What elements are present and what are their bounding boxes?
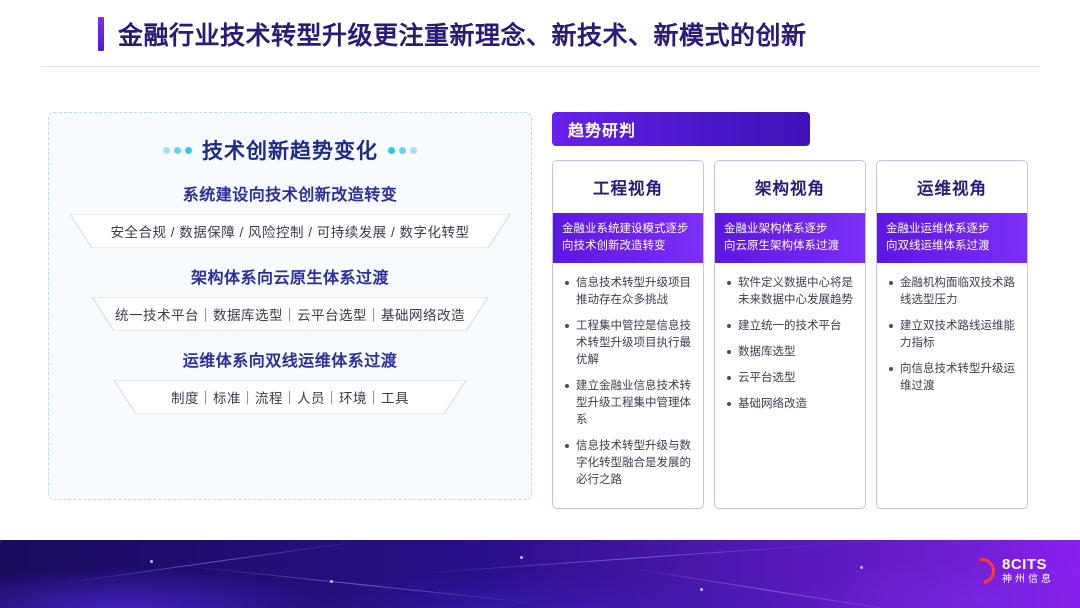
list-item: 向信息技术转型升级运维过渡	[889, 361, 1017, 395]
footer-bar: 8CITS 神州信息	[0, 540, 1080, 608]
card-3-band-line-2: 向双线运维体系过渡	[886, 238, 1018, 255]
stage-2: 架构体系向云原生体系过渡 统一技术平台｜数据库选型｜云平台选型｜基础网络改造	[49, 264, 531, 331]
page-header: 金融行业技术转型升级更注重新理念、新技术、新模式的创新	[0, 0, 1080, 68]
stage-3-title: 运维体系向双线运维体系过渡	[49, 347, 531, 371]
trend-change-panel: 技术创新趋势变化 系统建设向技术创新改造转变 安全合规 / 数据保障 / 风险控…	[48, 112, 532, 500]
card-1-band-line-2: 向技术创新改造转变	[562, 238, 694, 255]
trend-assessment-header-label: 趋势研判	[568, 117, 636, 141]
list-item: 数据库选型	[727, 344, 855, 361]
stage-1-funnel: 安全合规 / 数据保障 / 风险控制 / 可持续发展 / 数字化转型	[70, 214, 510, 248]
logo-text-en: 8CITS	[1002, 557, 1054, 572]
list-item: 建立统一的技术平台	[727, 318, 855, 335]
stage-1: 系统建设向技术创新改造转变 安全合规 / 数据保障 / 风险控制 / 可持续发展…	[49, 181, 531, 248]
card-1-band-line-1: 金融业系统建设模式逐步	[562, 221, 694, 238]
company-logo: 8CITS 神州信息	[969, 557, 1054, 585]
list-item: 工程集中管控是信息技术转型升级项目执行最优解	[565, 318, 693, 369]
card-1-band: 金融业系统建设模式逐步 向技术创新改造转变	[553, 213, 703, 263]
card-3-band-line-1: 金融业运维体系逐步	[886, 221, 1018, 238]
stage-3-funnel: 制度｜标准｜流程｜人员｜环境｜工具	[70, 380, 510, 414]
decorative-dots-left	[163, 147, 192, 154]
perspective-card-architecture[interactable]: 架构视角 金融业架构体系逐步 向云原生架构体系过渡 软件定义数据中心将是未来数据…	[714, 160, 866, 509]
card-2-band: 金融业架构体系逐步 向云原生架构体系过渡	[715, 213, 865, 263]
stage-2-items: 统一技术平台｜数据库选型｜云平台选型｜基础网络改造	[70, 297, 510, 331]
decorative-dots-right	[388, 147, 417, 154]
left-panel-heading: 技术创新趋势变化	[49, 135, 531, 165]
perspective-card-list: 工程视角 金融业系统建设模式逐步 向技术创新改造转变 信息技术转型升级项目推动存…	[552, 160, 1032, 509]
trend-assessment-header: 趋势研判	[552, 112, 810, 146]
stage-1-items: 安全合规 / 数据保障 / 风险控制 / 可持续发展 / 数字化转型	[70, 214, 510, 248]
card-2-body: 软件定义数据中心将是未来数据中心发展趋势 建立统一的技术平台 数据库选型 云平台…	[715, 263, 865, 432]
list-item: 云平台选型	[727, 370, 855, 387]
stage-3: 运维体系向双线运维体系过渡 制度｜标准｜流程｜人员｜环境｜工具	[49, 347, 531, 414]
list-item: 信息技术转型升级与数字化转型融合是发展的必行之路	[565, 438, 693, 489]
perspective-card-operations[interactable]: 运维视角 金融业运维体系逐步 向双线运维体系过渡 金融机构面临双技术路线选型压力…	[876, 160, 1028, 509]
trend-assessment-panel: 趋势研判 工程视角 金融业系统建设模式逐步 向技术创新改造转变 信息技术转型升级…	[552, 112, 1032, 509]
list-item: 信息技术转型升级项目推动存在众多挑战	[565, 275, 693, 309]
logo-swirl-icon	[969, 558, 995, 584]
logo-text-cn: 神州信息	[1002, 575, 1054, 585]
left-panel-heading-label: 技术创新趋势变化	[202, 135, 378, 165]
card-2-title: 架构视角	[715, 161, 865, 213]
list-item: 建立金融业信息技术转型升级工程集中管理体系	[565, 378, 693, 429]
card-1-title: 工程视角	[553, 161, 703, 213]
list-item: 软件定义数据中心将是未来数据中心发展趋势	[727, 275, 855, 309]
card-3-band: 金融业运维体系逐步 向双线运维体系过渡	[877, 213, 1027, 263]
list-item: 金融机构面临双技术路线选型压力	[889, 275, 1017, 309]
card-1-body: 信息技术转型升级项目推动存在众多挑战 工程集中管控是信息技术转型升级项目执行最优…	[553, 263, 703, 508]
page-title: 金融行业技术转型升级更注重新理念、新技术、新模式的创新	[118, 16, 807, 52]
stage-3-items: 制度｜标准｜流程｜人员｜环境｜工具	[70, 380, 510, 414]
card-3-title: 运维视角	[877, 161, 1027, 213]
stage-2-title: 架构体系向云原生体系过渡	[49, 264, 531, 288]
card-2-band-line-2: 向云原生架构体系过渡	[724, 238, 856, 255]
stage-2-funnel: 统一技术平台｜数据库选型｜云平台选型｜基础网络改造	[70, 297, 510, 331]
card-3-body: 金融机构面临双技术路线选型压力 建立双技术路线运维能力指标 向信息技术转型升级运…	[877, 263, 1027, 414]
perspective-card-engineering[interactable]: 工程视角 金融业系统建设模式逐步 向技术创新改造转变 信息技术转型升级项目推动存…	[552, 160, 704, 509]
header-divider	[40, 66, 1040, 67]
card-2-band-line-1: 金融业架构体系逐步	[724, 221, 856, 238]
list-item: 建立双技术路线运维能力指标	[889, 318, 1017, 352]
title-accent-bar	[98, 17, 104, 51]
list-item: 基础网络改造	[727, 396, 855, 413]
stage-1-title: 系统建设向技术创新改造转变	[49, 181, 531, 205]
